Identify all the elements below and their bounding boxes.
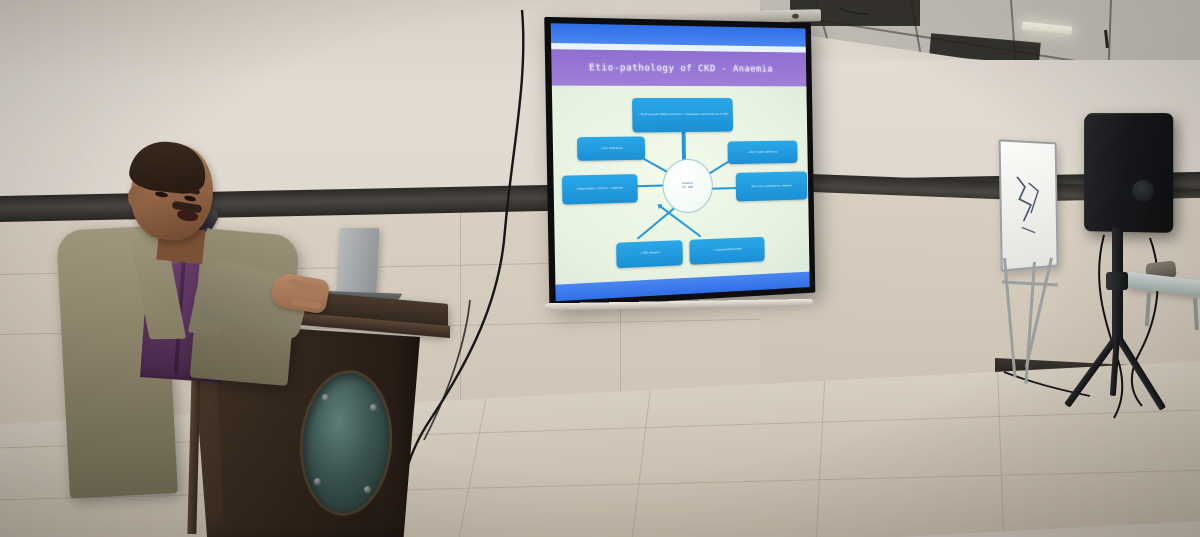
projection-screen: Etio-pathology of CKD - Anaemia ↓ Erythr… bbox=[548, 12, 826, 310]
presentation-room-photo: Etio-pathology of CKD - Anaemia ↓ Erythr… bbox=[0, 0, 1200, 537]
podium-screw-tr bbox=[370, 404, 377, 411]
speaker-stand-clamp bbox=[1106, 272, 1128, 290]
node-epo: ↓ Erythropoietin (EPO) production ↓ Decr… bbox=[632, 98, 733, 133]
whiteboard-surface bbox=[999, 139, 1059, 271]
node-inflammation: Inflammation / Chronic ↑ Hepcidin bbox=[562, 174, 639, 205]
ceiling-light bbox=[1022, 21, 1073, 34]
node-bloodloss: Blood loss (phlebotomy, dialysis) bbox=[735, 172, 807, 202]
slide-diagram: ↓ Erythropoietin (EPO) production ↓ Decr… bbox=[552, 86, 810, 285]
node-hyperpth: ↑ Hyperparathyroidism bbox=[689, 236, 765, 264]
node-iron: ↓ Iron deficiency bbox=[577, 137, 645, 162]
node-b12: ↓ B12 / folate deficiency bbox=[727, 140, 797, 164]
screen-frame: Etio-pathology of CKD - Anaemia ↓ Erythr… bbox=[544, 17, 815, 308]
node-rbclife: ↓ RBC life span bbox=[616, 240, 683, 268]
podium-screw-bl bbox=[314, 478, 321, 485]
speaker-cabinet bbox=[1084, 113, 1173, 233]
diagram-hub-anemia-of-ckd: Anemia of CKD bbox=[662, 159, 713, 214]
slide-title: Etio-pathology of CKD - Anaemia bbox=[551, 50, 806, 87]
podium-screw-tl bbox=[322, 394, 329, 401]
podium-screw-br bbox=[364, 486, 371, 493]
speaker-driver bbox=[1132, 180, 1154, 202]
hub-line-2: of CKD bbox=[682, 186, 693, 190]
screen-surface: Etio-pathology of CKD - Anaemia ↓ Erythr… bbox=[551, 23, 810, 301]
slide-content: Etio-pathology of CKD - Anaemia ↓ Erythr… bbox=[551, 23, 810, 301]
